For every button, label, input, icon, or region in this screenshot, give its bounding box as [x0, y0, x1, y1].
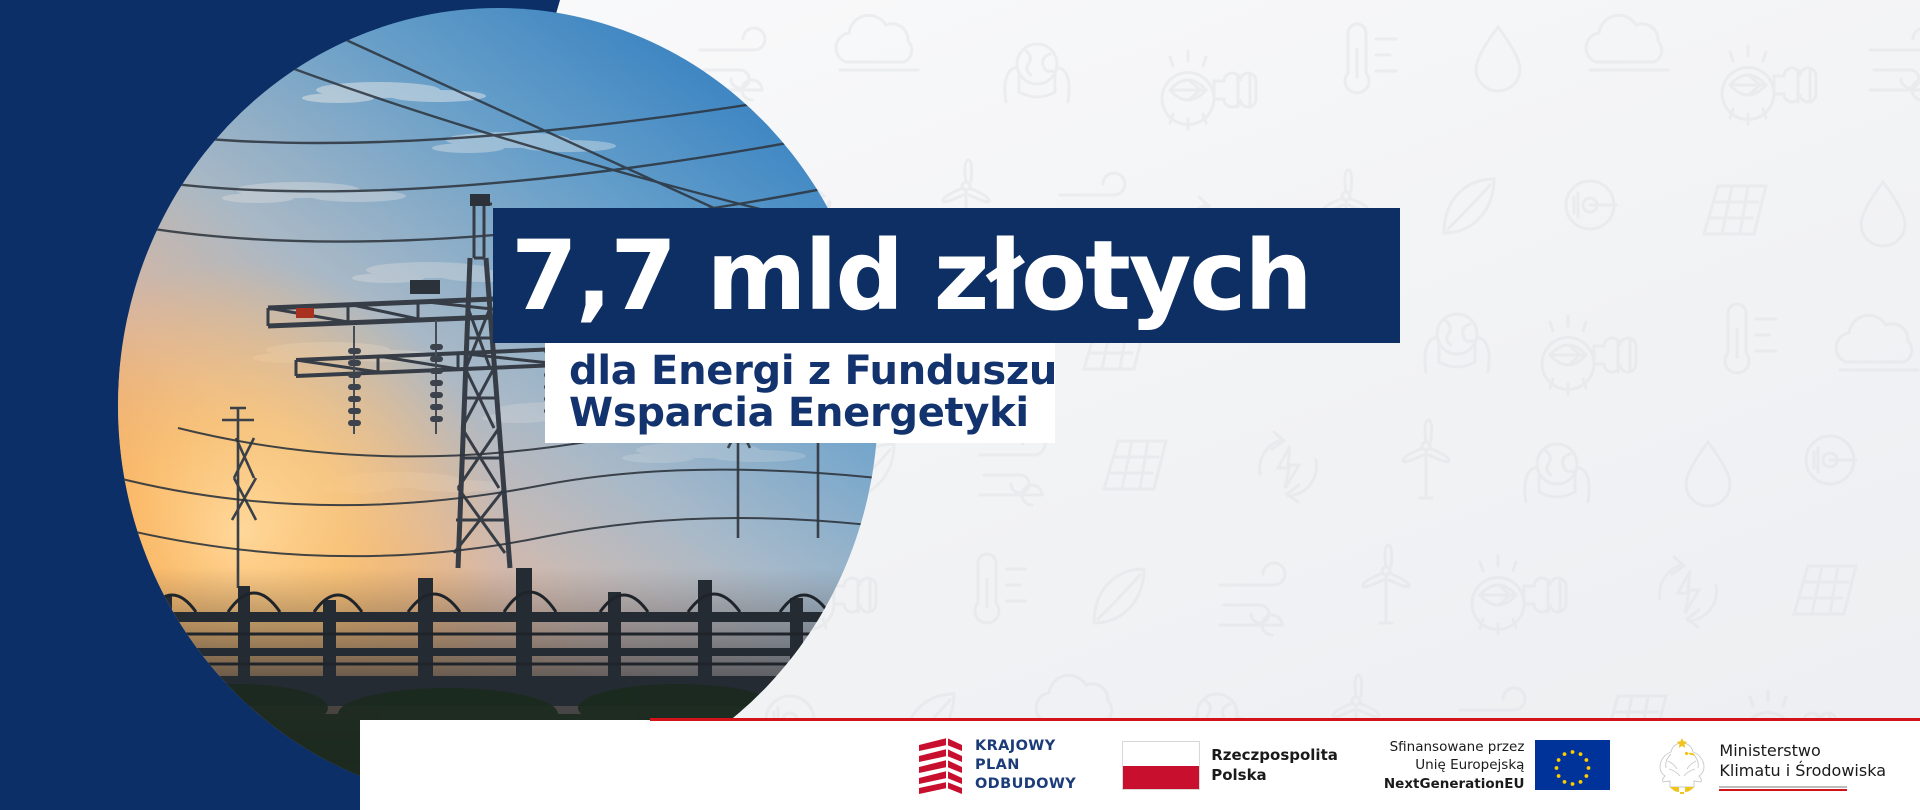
- promo-banner: 7,7 mld złotych dla Energi z Funduszu Ws…: [0, 0, 1920, 810]
- eu-line-2: Unię Europejską: [1384, 756, 1525, 774]
- kpo-label: KRAJOWY PLAN ODBUDOWY: [975, 737, 1076, 794]
- logo-rzeczpospolita-polska: Rzeczpospolita Polska: [1122, 741, 1338, 790]
- logo-next-generation-eu: Sfinansowane przez Unię Europejską NextG…: [1384, 738, 1611, 792]
- flag-red-stripe: [1123, 766, 1199, 790]
- logo-ministerstwo-klimatu-i-srodowiska: Ministerstwo Klimatu i Środowiska: [1656, 737, 1886, 795]
- polish-eagle-icon: [1656, 737, 1708, 795]
- ministry-label: Ministerstwo Klimatu i Środowiska: [1719, 741, 1886, 781]
- kpo-line-1: KRAJOWY: [975, 737, 1076, 756]
- rp-label: Rzeczpospolita Polska: [1211, 746, 1338, 784]
- eu-line-3: NextGenerationEU: [1384, 775, 1525, 793]
- footer-logo-row: KRAJOWY PLAN ODBUDOWY Rzeczpospolita Pol…: [650, 721, 1920, 810]
- logo-krajowy-plan-odbudowy: KRAJOWY PLAN ODBUDOWY: [917, 737, 1076, 794]
- kpo-line-2: PLAN: [975, 756, 1076, 775]
- ministry-rule: [1719, 786, 1847, 791]
- kpo-mark-icon: [917, 738, 964, 794]
- subtitle-line-2: Wsparcia Energetyki: [569, 392, 1041, 434]
- kpo-line-3: ODBUDOWY: [975, 775, 1076, 794]
- rp-line-2: Polska: [1211, 766, 1338, 785]
- ministry-line-2: Klimatu i Środowiska: [1719, 761, 1886, 781]
- flag-white-stripe: [1123, 742, 1199, 766]
- headline-box: 7,7 mld złotych: [493, 208, 1400, 343]
- rp-line-1: Rzeczpospolita: [1211, 746, 1338, 765]
- eu-label: Sfinansowane przez Unię Europejską NextG…: [1384, 738, 1525, 792]
- eu-flag-icon: [1535, 740, 1610, 790]
- eu-line-1: Sfinansowane przez: [1384, 738, 1525, 756]
- subtitle-line-1: dla Energi z Funduszu: [569, 350, 1041, 392]
- polish-flag-icon: [1122, 741, 1200, 790]
- subtitle-box: dla Energi z Funduszu Wsparcia Energetyk…: [545, 343, 1055, 443]
- ministry-rule-red: [1719, 789, 1847, 791]
- ministry-label-block: Ministerstwo Klimatu i Środowiska: [1719, 741, 1886, 791]
- headline-text: 7,7 mld złotych: [511, 228, 1311, 324]
- ministry-line-1: Ministerstwo: [1719, 741, 1886, 761]
